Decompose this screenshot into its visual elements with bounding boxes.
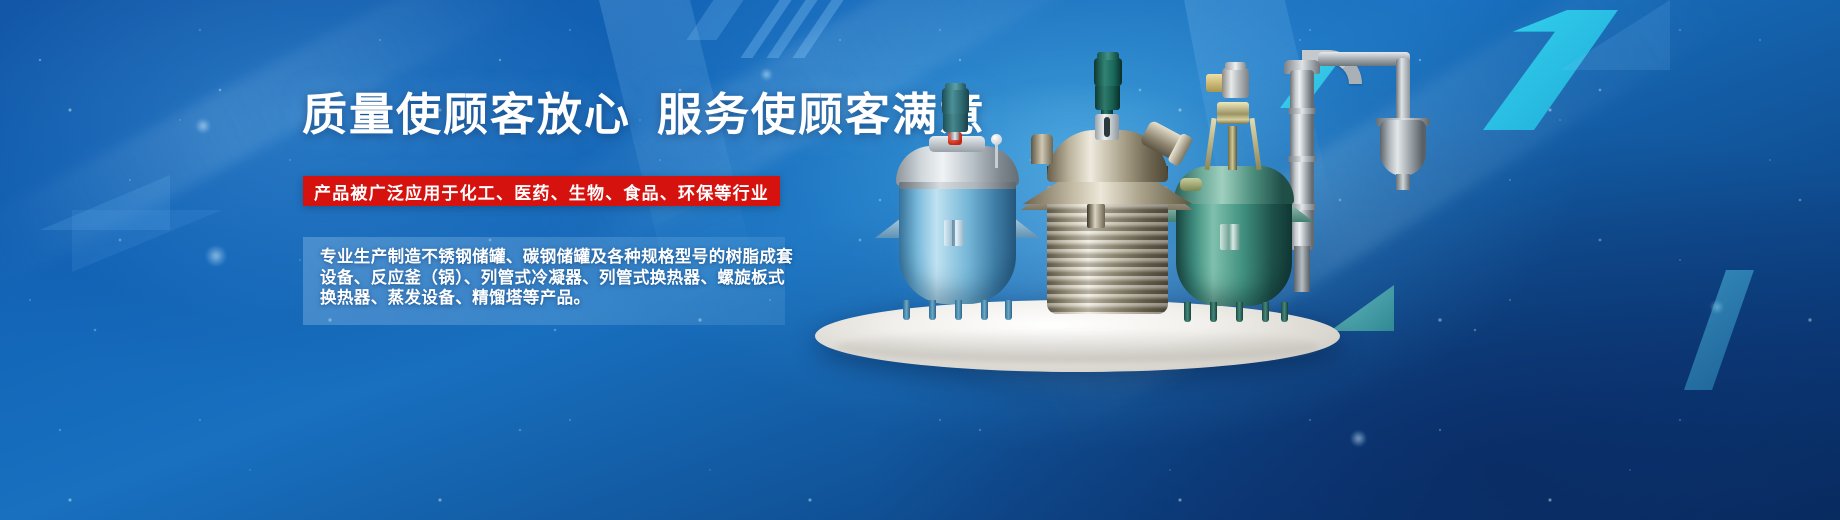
description-line-1: 专业生产制造不锈钢储罐、碳钢储罐及各种规格型号的树脂成套 (320, 247, 800, 268)
flange-ring (899, 182, 1016, 189)
motor-cap (1097, 52, 1119, 60)
motor-cap (1225, 62, 1246, 70)
receiver-vessel (1380, 120, 1426, 176)
motor-cap (945, 83, 966, 90)
sight-glass (1220, 224, 1240, 250)
description-line-3: 换热器、蒸发设备、精馏塔等产品。 (320, 288, 800, 309)
receiver-outlet (1396, 174, 1410, 190)
blue-jacketed-reactor (885, 96, 1030, 328)
stainless-coiled-reactor (1025, 62, 1190, 330)
reactor-legs (901, 300, 1014, 322)
left-nozzle (1031, 134, 1053, 164)
headline-part-one: 质量使顾客放心 (302, 89, 631, 140)
description-line-2: 设备、反应釜（锅）、列管式冷凝器、列管式换热器、螺旋板式 (320, 268, 800, 289)
sight-glass (1087, 204, 1105, 228)
text-content-area: 质量使顾客放心服务使顾客满意 产品被广泛应用于化工、医药、生物、食品、环保等行业… (0, 0, 860, 520)
coiled-jacket-shell (1047, 186, 1168, 314)
promotional-banner: 质量使顾客放心服务使顾客满意 产品被广泛应用于化工、医药、生物、食品、环保等行业… (0, 0, 1840, 520)
equipment-scene (790, 0, 1840, 520)
sight-glass (944, 220, 964, 246)
drive-motor (942, 88, 969, 114)
mechanical-seal-coupling (1095, 114, 1119, 140)
agitator-shaft (1228, 126, 1237, 170)
downcomer-pipe (1396, 58, 1410, 124)
temperature-probe (995, 142, 998, 168)
drive-motor (1094, 58, 1122, 86)
red-ribbon-text: 产品被广泛应用于化工、医药、生物、食品、环保等行业 (314, 179, 769, 204)
description-text: 专业生产制造不锈钢储罐、碳钢储罐及各种规格型号的树脂成套 设备、反应釜（锅）、列… (320, 247, 800, 309)
reactor-legs (1180, 302, 1290, 324)
reactor-dome (896, 146, 1019, 186)
drive-motor (1222, 68, 1249, 98)
gearbox-stack (1217, 102, 1249, 124)
red-ribbon-badge: 产品被广泛应用于化工、医药、生物、食品、环保等行业 (303, 176, 780, 206)
gearbox (1095, 84, 1120, 110)
